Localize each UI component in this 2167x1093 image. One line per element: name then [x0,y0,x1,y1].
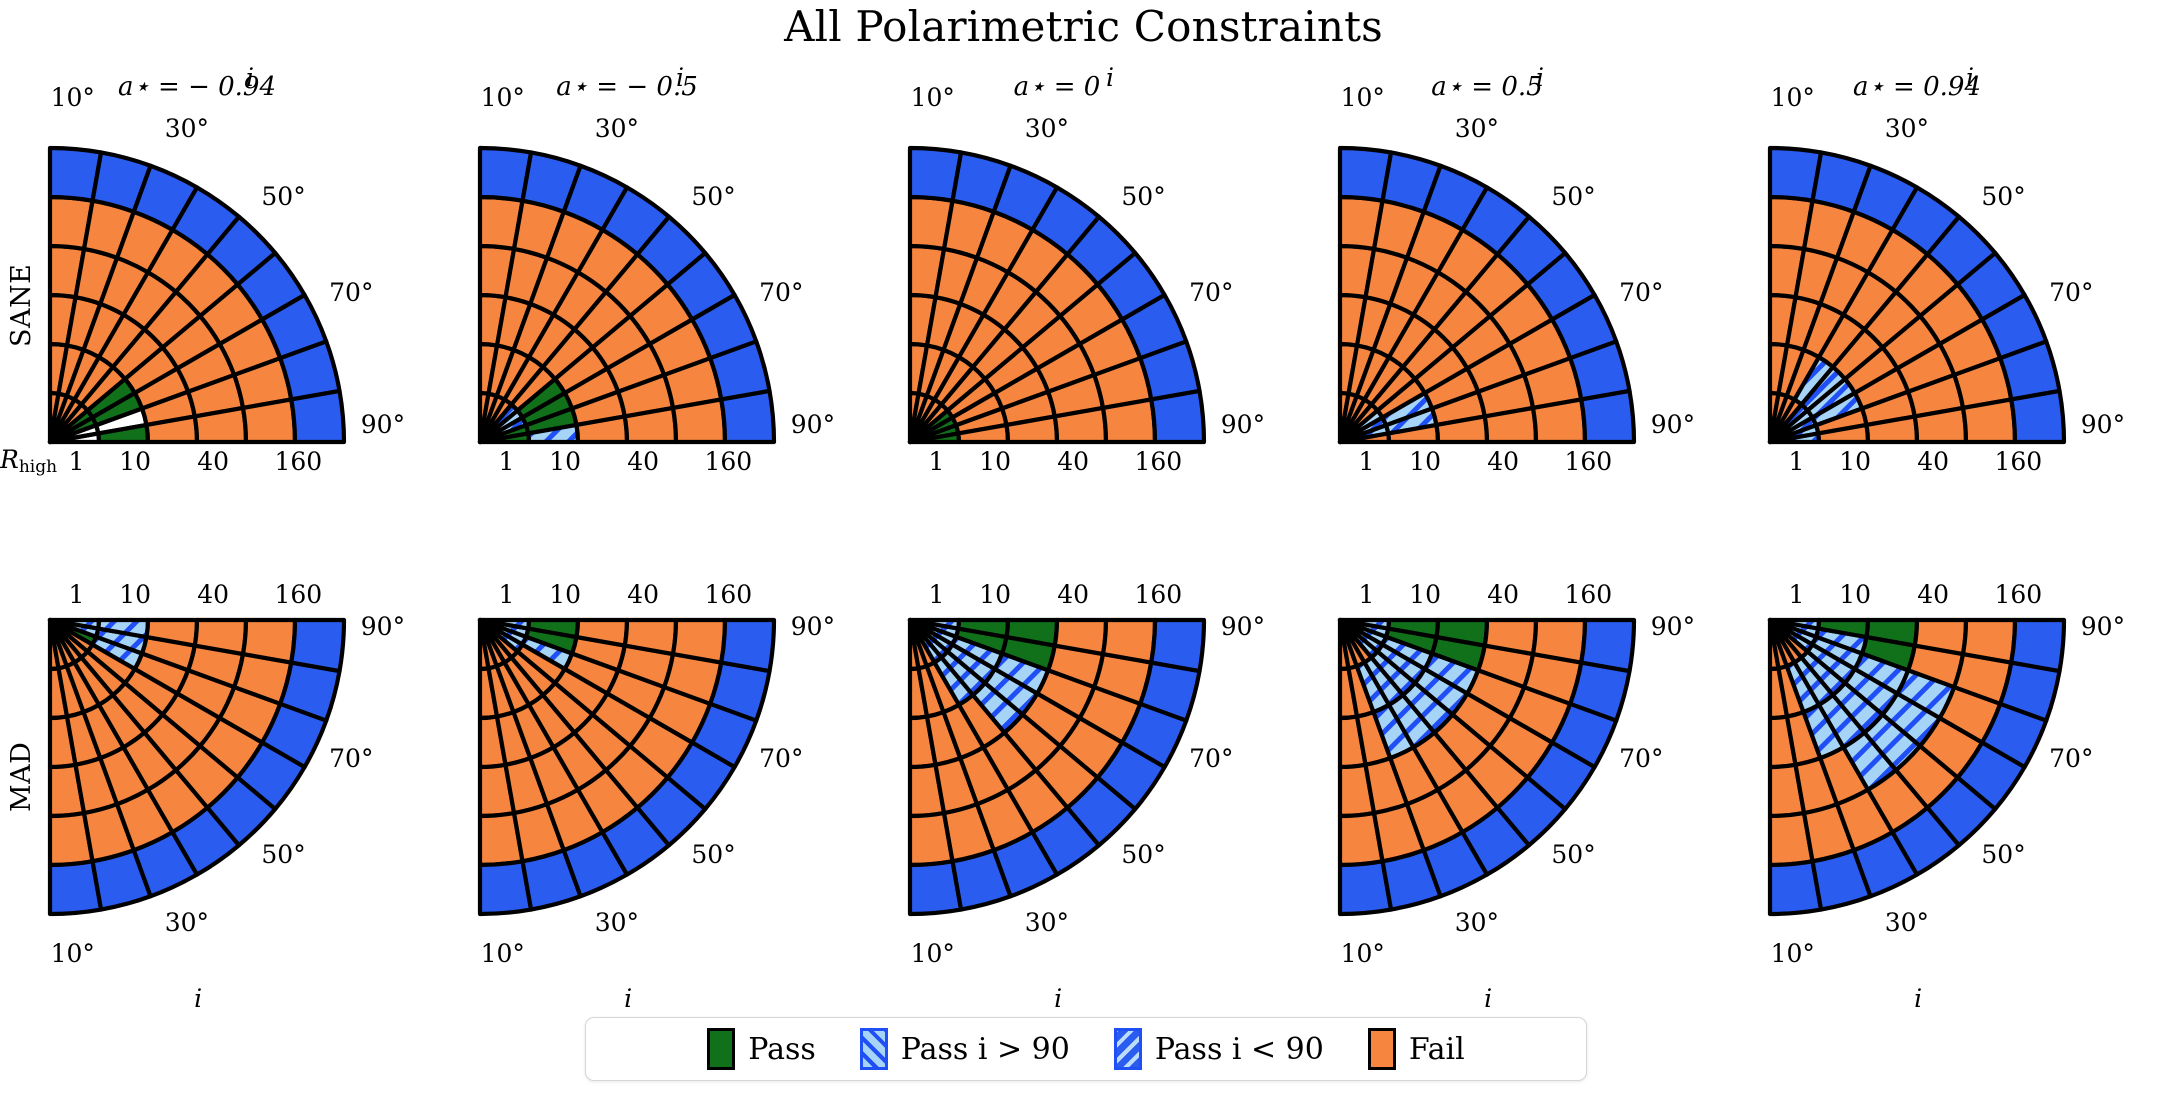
angular-axis-label: i [1484,984,1492,1013]
polar-cell [721,391,774,442]
radial-tick-40: 40 [1903,580,1963,609]
angular-tick-label: 10° [51,939,95,968]
angular-axis-label: i [1536,63,1544,92]
polar-cell [2011,391,2064,442]
polar-panel-mad-spin-neg0p94 [47,617,347,917]
legend-item-hatch-lightblue[interactable]: Pass i > 90 [838,1028,1092,1070]
radial-tick-40: 40 [1473,447,1533,476]
radial-tick-10: 10 [535,447,595,476]
polar-panel-mad-spin-0p5 [1337,617,1637,917]
polar-cell [1485,620,1536,654]
radial-tick-160: 160 [1128,580,1188,609]
angular-tick-label: 10° [481,939,525,968]
figure-title: All Polarimetric Constraints [0,2,2167,51]
polar-cell [195,620,246,654]
angular-tick-label: 90° [361,410,405,439]
polar-panel-mad-spin-0p94 [1767,617,2067,917]
polar-grid [1337,617,1637,917]
legend-swatch [860,1028,888,1070]
angular-tick-label: 70° [329,278,373,307]
polar-cell [1533,399,1585,442]
radial-tick-1: 1 [906,580,966,609]
angular-tick-label: 70° [2049,278,2093,307]
radial-axis-label-main: R [0,445,19,474]
radial-tick-40: 40 [613,447,673,476]
polar-cell [1963,399,2015,442]
angular-tick-label: 50° [261,840,305,869]
polar-cell [625,408,676,442]
radial-tick-10: 10 [105,580,165,609]
legend-label: Pass [748,1032,816,1067]
angular-tick-label: 90° [2081,612,2125,641]
radial-tick-160: 160 [268,447,328,476]
polar-cell [1055,620,1106,654]
polar-cell [721,620,774,671]
angular-tick-label: 90° [1221,410,1265,439]
radial-axis-label: Rhigh [0,445,57,477]
polar-cell [98,425,148,442]
polar-cell [625,620,676,654]
polar-cell [1581,620,1634,671]
radial-tick-160: 160 [1558,580,1618,609]
legend-label: Pass i < 90 [1155,1032,1324,1067]
angular-tick-label: 30° [1025,114,1069,143]
angular-tick-label: 70° [1619,278,1663,307]
angular-axis-label: i [1966,63,1974,92]
polar-cell [673,620,725,663]
polar-cell [1581,391,1634,442]
radial-tick-1: 1 [476,580,536,609]
radial-tick-10: 10 [105,447,165,476]
radial-tick-10: 10 [1825,447,1885,476]
angular-tick-label: 10° [1771,939,1815,968]
legend-item-solid-orange[interactable]: Fail [1346,1028,1487,1070]
polar-cell [1963,620,2015,663]
angular-axis-label: i [246,63,254,92]
radial-tick-1: 1 [476,447,536,476]
polar-cell [2011,620,2064,671]
polar-cell [291,391,344,442]
radial-tick-1: 1 [1336,447,1396,476]
angular-tick-label: 50° [1981,840,2025,869]
radial-tick-40: 40 [1043,580,1103,609]
polar-cell [1533,620,1585,663]
radial-tick-10: 10 [1395,447,1455,476]
radial-tick-1: 1 [1336,580,1396,609]
angular-tick-label: 90° [2081,410,2125,439]
angular-tick-label: 70° [759,278,803,307]
angular-tick-label: 30° [1885,908,1929,937]
polar-cell [243,620,295,663]
angular-tick-label: 10° [911,939,955,968]
angular-tick-label: 50° [1551,182,1595,211]
angular-tick-label: 50° [1121,182,1165,211]
row-label-sane: SANE [6,230,37,380]
legend: PassPass i > 90Pass i < 90Fail [585,1017,1587,1081]
angular-tick-label: 90° [1651,612,1695,641]
radial-tick-10: 10 [965,447,1025,476]
legend-swatch [1368,1028,1396,1070]
polar-panel-mad-spin-0 [907,617,1207,917]
angular-tick-label: 70° [329,744,373,773]
angular-tick-label: 90° [1651,410,1695,439]
radial-tick-40: 40 [613,580,673,609]
angular-tick-label: 90° [361,612,405,641]
polar-cell [195,408,246,442]
radial-tick-160: 160 [698,447,758,476]
angular-tick-label: 50° [1981,182,2025,211]
angular-axis-label: i [676,63,684,92]
angular-tick-label: 50° [1121,840,1165,869]
angular-tick-label: 10° [1341,939,1385,968]
radial-tick-40: 40 [1043,447,1103,476]
polar-grid [907,617,1207,917]
angular-tick-label: 10° [481,83,525,112]
radial-tick-10: 10 [535,580,595,609]
polar-cell [1151,391,1204,442]
angular-axis-label: i [194,984,202,1013]
radial-tick-1: 1 [906,447,966,476]
legend-swatch [707,1028,735,1070]
angular-tick-label: 70° [1189,744,1233,773]
radial-tick-40: 40 [1473,580,1533,609]
polar-cell [1915,620,1966,654]
angular-tick-label: 30° [1025,908,1069,937]
polar-cell [291,620,344,671]
angular-tick-label: 10° [911,83,955,112]
angular-tick-label: 50° [1551,840,1595,869]
polar-grid [47,617,347,917]
radial-axis-label-sub: high [19,457,57,477]
legend-item-solid-green[interactable]: Pass [685,1028,838,1070]
polar-grid [477,617,777,917]
radial-tick-10: 10 [965,580,1025,609]
angular-tick-label: 90° [791,612,835,641]
angular-tick-label: 30° [1455,908,1499,937]
angular-tick-label: 30° [165,114,209,143]
angular-tick-label: 30° [1885,114,1929,143]
figure-root: All Polarimetric Constraints [0,0,2167,1093]
polar-cell [1103,620,1155,663]
row-label-mad: MAD [6,702,37,852]
polar-cell [1151,620,1204,671]
radial-tick-10: 10 [1395,580,1455,609]
polar-cell [673,399,725,442]
radial-tick-160: 160 [268,580,328,609]
radial-tick-1: 1 [1766,580,1826,609]
angular-axis-label: i [1914,984,1922,1013]
radial-tick-160: 160 [1128,447,1188,476]
radial-tick-40: 40 [183,447,243,476]
radial-tick-40: 40 [1903,447,1963,476]
radial-tick-160: 160 [698,580,758,609]
angular-tick-label: 30° [1455,114,1499,143]
polar-cell [1103,399,1155,442]
angular-tick-label: 30° [595,114,639,143]
angular-tick-label: 50° [691,840,735,869]
angular-tick-label: 10° [51,83,95,112]
legend-label: Pass i > 90 [901,1032,1070,1067]
angular-tick-label: 30° [165,908,209,937]
angular-tick-label: 10° [1771,83,1815,112]
radial-tick-1: 1 [1766,447,1826,476]
radial-tick-160: 160 [1988,447,2048,476]
legend-swatch [1114,1028,1142,1070]
angular-tick-label: 70° [2049,744,2093,773]
angular-tick-label: 50° [261,182,305,211]
angular-axis-label: i [1054,984,1062,1013]
angular-tick-label: 70° [1619,744,1663,773]
radial-tick-10: 10 [1825,580,1885,609]
angular-tick-label: 30° [595,908,639,937]
radial-tick-160: 160 [1558,447,1618,476]
angular-tick-label: 90° [791,410,835,439]
polar-cell [1055,408,1106,442]
angular-tick-label: 70° [1189,278,1233,307]
polar-cell [1915,408,1966,442]
angular-axis-label: i [624,984,632,1013]
angular-tick-label: 90° [1221,612,1265,641]
polar-cell [1485,408,1536,442]
polar-panel-mad-spin-neg0p5 [477,617,777,917]
legend-label: Fail [1409,1032,1465,1067]
radial-tick-1: 1 [46,580,106,609]
polar-cell [243,399,295,442]
polar-grid [1767,617,2067,917]
radial-tick-40: 40 [183,580,243,609]
angular-tick-label: 70° [759,744,803,773]
angular-tick-label: 10° [1341,83,1385,112]
legend-item-hatch-blue[interactable]: Pass i < 90 [1092,1028,1346,1070]
angular-axis-label: i [1106,63,1114,92]
angular-tick-label: 50° [691,182,735,211]
radial-tick-160: 160 [1988,580,2048,609]
